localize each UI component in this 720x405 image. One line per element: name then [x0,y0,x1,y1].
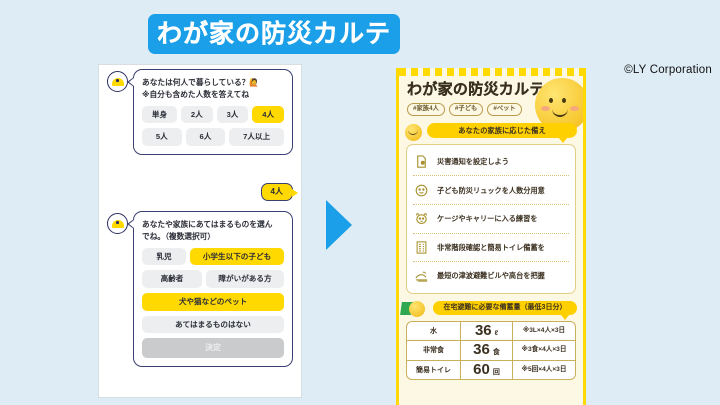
stock-item-name: 非常食 [407,341,461,360]
checklist-item: 災害通知を設定しよう [413,148,569,177]
helmet-avatar-icon [107,71,128,92]
option-button-shougai[interactable]: 障がいがある方 [206,270,284,288]
stock-item-unit: 食 [493,347,500,357]
result-card: わが家の防災カルテ #家族4人 #子ども #ペット あなたの家族に応じた備え 災… [396,68,586,405]
checklist-item-label: ケージやキャリーに入る練習を [437,215,537,222]
option-row: あてはまるものはない [142,316,284,334]
option-button-pet[interactable]: 犬や猫などのペット [142,293,284,311]
checklist-item-label: 最短の津波避難ビルや高台を把握 [437,272,545,279]
option-button-nyuuji[interactable]: 乳児 [142,248,186,266]
submit-button[interactable]: 決定 [142,338,284,358]
option-button-2nin[interactable]: 2人 [181,106,213,124]
child-face-icon [413,182,430,199]
flag-mascot-icon [409,301,425,317]
stock-banner-wrap: 在宅避難に必要な備蓄量（最低3日分） [405,301,577,317]
section-banner-wrap: あなたの家族に応じた備え [405,123,577,140]
tsunami-wave-icon [413,267,430,284]
option-button-7nin-ijou[interactable]: 7人以上 [229,128,284,146]
stock-item-value: 60 [473,362,490,379]
stock-table-row: 水 36 ℓ ※3L×4人×3日 [407,322,575,342]
option-button-5nin[interactable]: 5人 [142,128,182,146]
page-title-banner: わが家の防災カルテ [148,14,400,54]
stock-banner: 在宅避難に必要な備蓄量（最低3日分） [433,301,577,315]
option-button-6nin[interactable]: 6人 [186,128,226,146]
card-top-stripe [399,68,583,76]
stock-item-unit: ℓ [495,330,498,337]
stock-item-value: 36 [475,323,492,340]
chat-question-1-line-2: ※自分も含めた人数を答えてね [142,89,284,101]
option-button-none[interactable]: あてはまるものはない [142,316,284,334]
checklist: 災害通知を設定しよう 子ども防災リュックを人数分用意 [406,144,576,294]
chat-question-2-line-1: あなたや家族にあてはまるものを選ん [142,219,284,231]
stock-item-value: 36 [473,342,490,359]
option-button-4nin[interactable]: 4人 [252,106,284,124]
checklist-item-label: 災害通知を設定しよう [437,158,509,165]
checklist-item: 子ども防災リュックを人数分用意 [413,176,569,205]
option-row: 乳児 小学生以下の子ども [142,248,284,266]
screenshot-stage: わが家の防災カルテ ©LY Corporation あなたは何人で暮らしている？… [0,0,720,405]
chat-reply-bubble: 4人 [261,183,293,201]
option-button-koureisha[interactable]: 高齢者 [142,270,202,288]
stock-table-row: 非常食 36 食 ※3食×4人×3日 [407,341,575,361]
option-row: 単身 2人 3人 4人 [142,106,284,124]
helmet-avatar-icon [107,213,128,234]
stock-table-row: 簡易トイレ 60 回 ※5回×4人×3日 [407,361,575,380]
stock-item-value-cell: 60 回 [461,361,513,380]
copyright-text: ©LY Corporation [624,64,712,76]
checklist-item-label: 非常階段確認と簡易トイレ備蓄を [437,244,545,251]
stock-item-note: ※3食×4人×3日 [513,341,575,360]
stock-item-note: ※5回×4人×3日 [513,361,575,380]
stock-item-note: ※3L×4人×3日 [513,322,575,341]
checklist-item: 非常階段確認と簡易トイレ備蓄を [413,234,569,263]
chat-panel: あなたは何人で暮らしている？🙋 ※自分も含めた人数を答えてね 単身 2人 3人 … [98,64,302,398]
chat-question-1-line-1: あなたは何人で暮らしている？🙋 [142,77,284,89]
chat-question-2-line-2: でね。（複数選択可） [142,231,284,243]
card-tag-pet: #ペット [487,103,521,116]
stock-banner-label: 在宅避難に必要な備蓄量（最低3日分） [444,304,567,311]
mini-mascot-icon [405,124,422,141]
checklist-item: ケージやキャリーに入る練習を [413,205,569,234]
option-row: 犬や猫などのペット [142,293,284,311]
stock-table: 水 36 ℓ ※3L×4人×3日 非常食 36 食 ※3食×4人×3日 簡易トイ… [406,321,576,381]
card-tag-child: #子ども [449,103,483,116]
checklist-item: 最短の津波避難ビルや高台を把握 [413,262,569,290]
chat-bubble-2: あなたや家族にあてはまるものを選ん でね。（複数選択可） 乳児 小学生以下の子ど… [133,211,293,367]
option-row: 5人 6人 7人以上 [142,128,284,146]
document-bell-icon [413,153,430,170]
stock-item-unit: 回 [493,367,500,377]
right-arrow-icon [326,200,352,250]
stock-item-name: 水 [407,322,461,341]
option-row: 高齢者 障がいがある方 [142,270,284,288]
checklist-item-label: 子ども防災リュックを人数分用意 [437,187,545,194]
option-button-3nin[interactable]: 3人 [217,106,249,124]
page-title: わが家の防災カルテ [157,22,391,47]
stock-item-name: 簡易トイレ [407,361,461,380]
section-banner-label: あなたの家族に応じた備え [458,127,546,134]
stock-item-value-cell: 36 食 [461,341,513,360]
section-banner: あなたの家族に応じた備え [427,123,577,138]
option-button-tanshin[interactable]: 単身 [142,106,177,124]
chat-bubble-1: あなたは何人で暮らしている？🙋 ※自分も含めた人数を答えてね 単身 2人 3人 … [133,69,293,155]
card-header: わが家の防災カルテ #家族4人 #子ども #ペット [399,76,583,116]
card-tag-family: #家族4人 [407,103,445,116]
option-button-shougakusei-ika[interactable]: 小学生以下の子ども [190,248,284,266]
building-stairs-icon [413,239,430,256]
dog-face-icon [413,210,430,227]
stock-item-value-cell: 36 ℓ [461,322,513,341]
